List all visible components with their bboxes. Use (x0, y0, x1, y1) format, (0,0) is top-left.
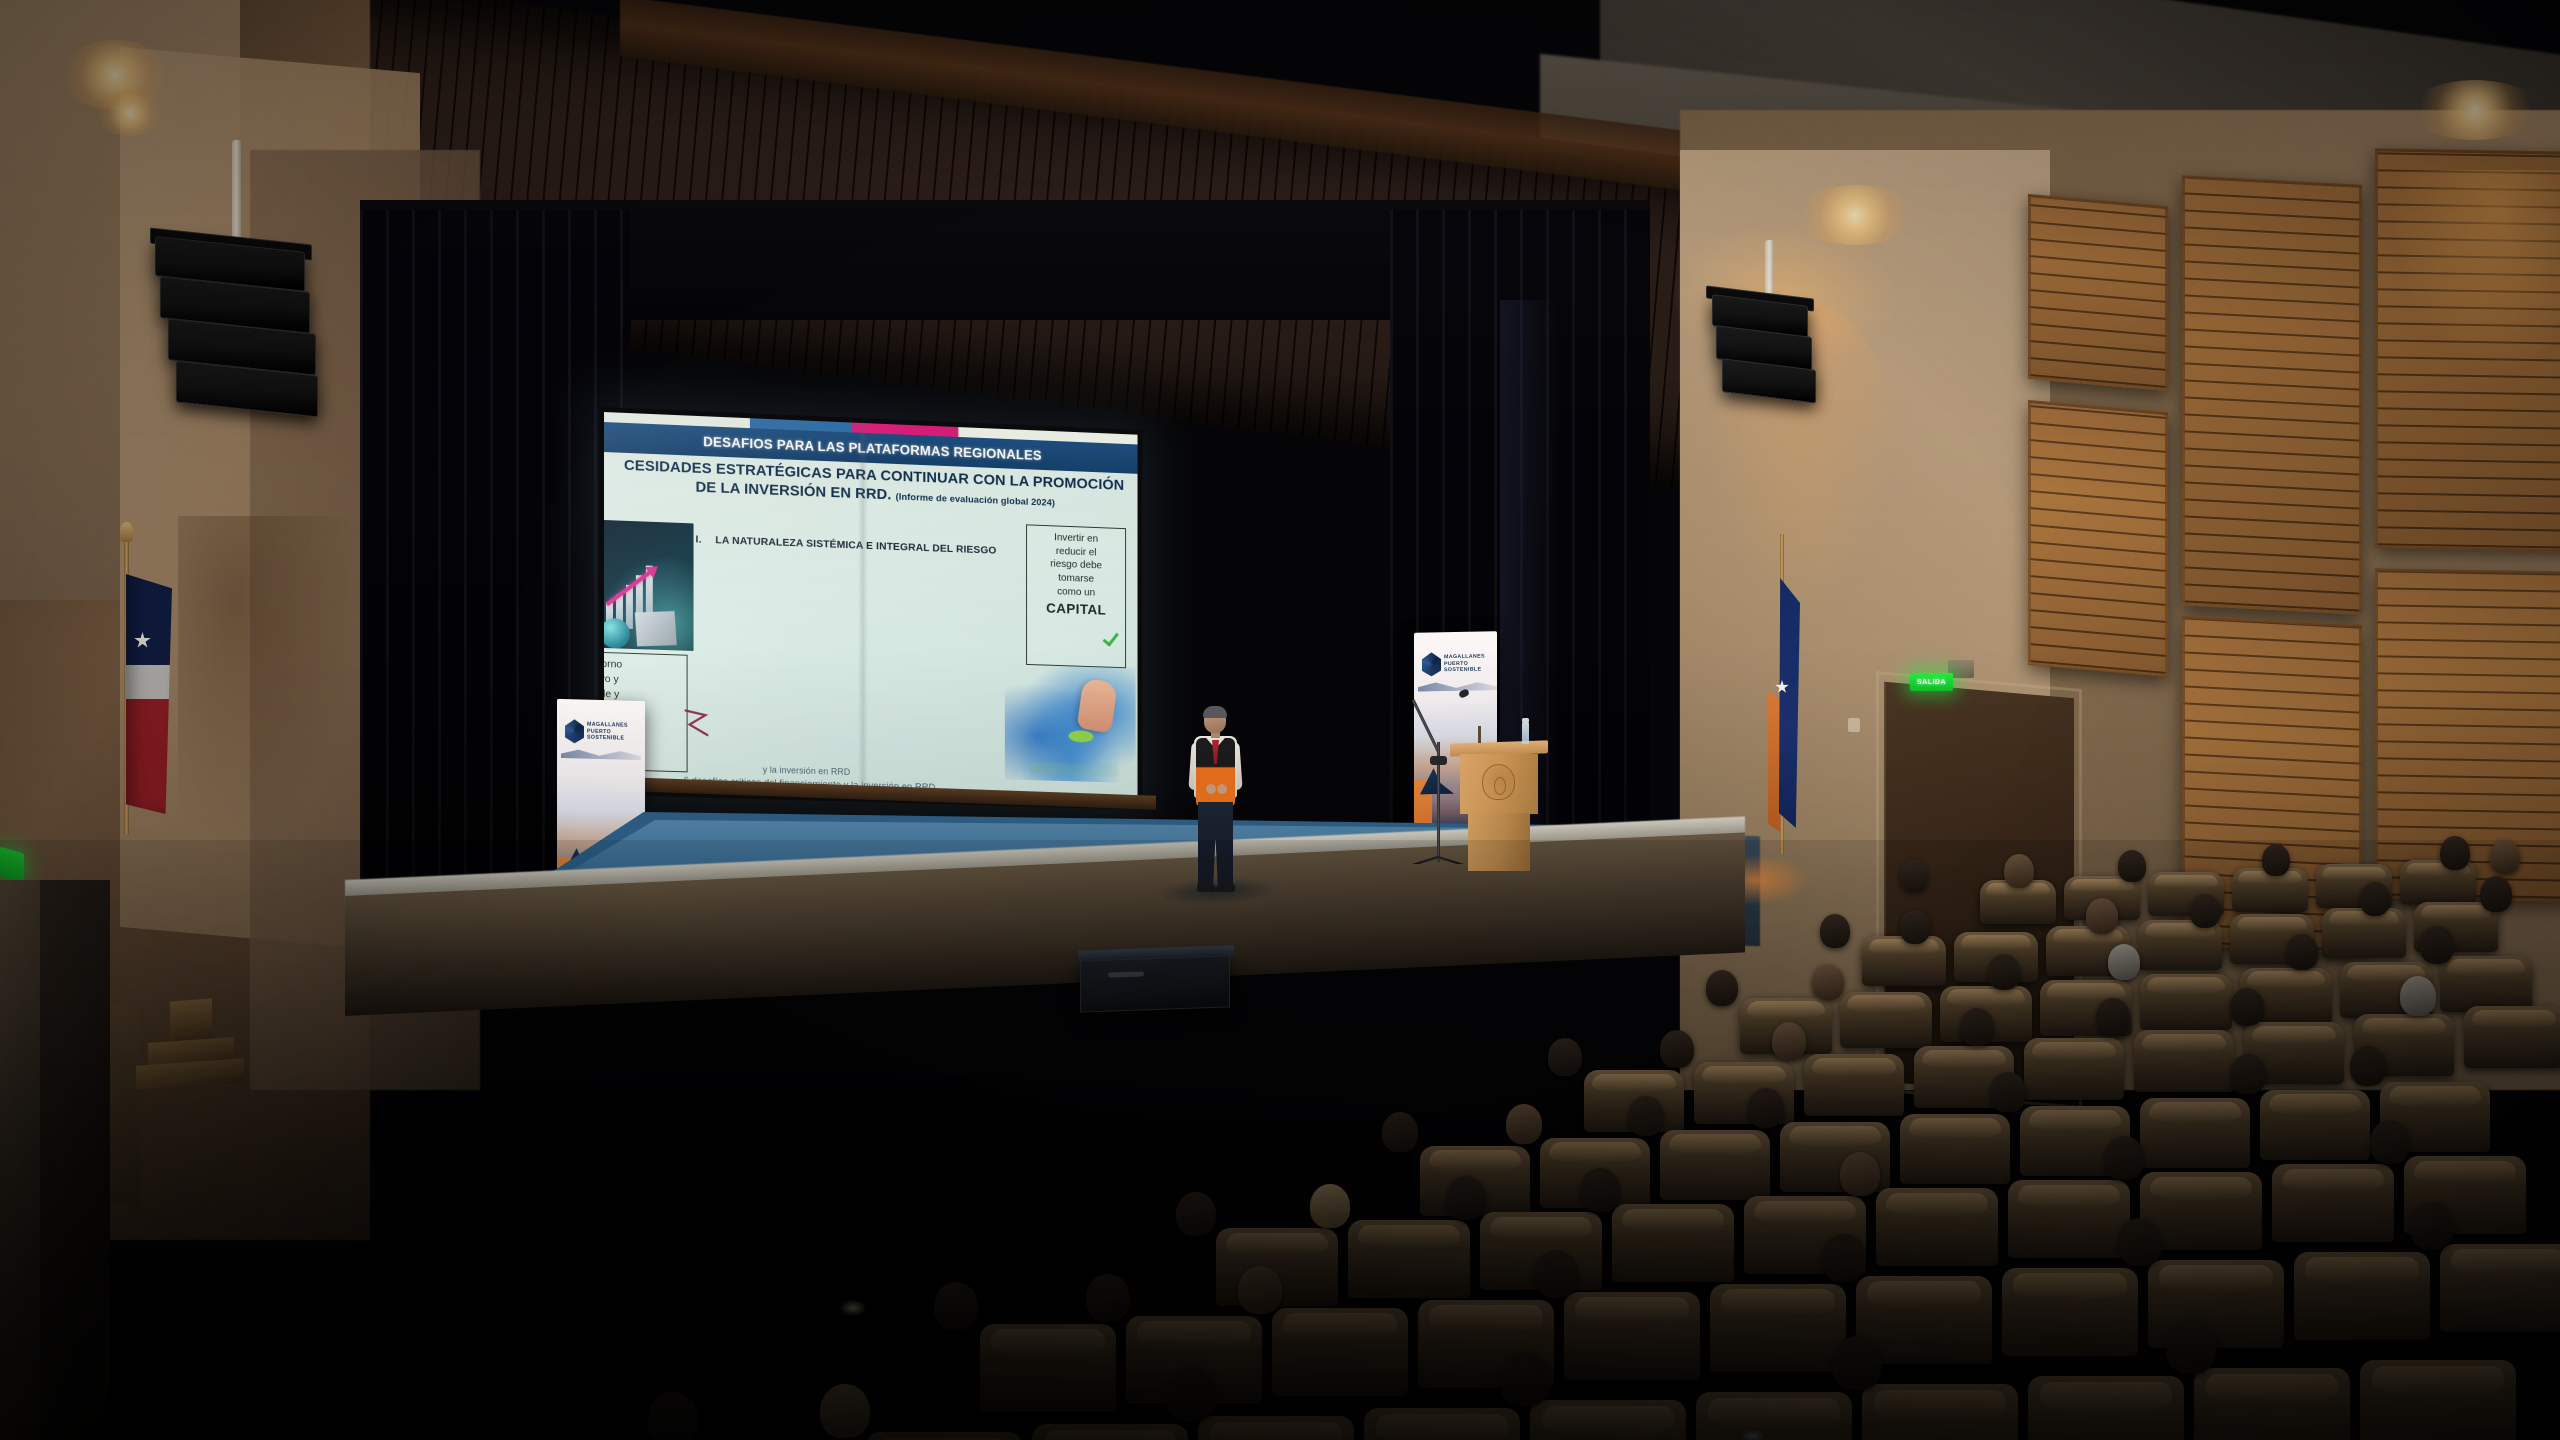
door-push-plate[interactable] (1848, 718, 1860, 732)
theater-seat[interactable] (2024, 1038, 2124, 1100)
hand-planting-icon (1077, 677, 1118, 733)
banner-logo: MAGALLANES PUERTO SOSTENIBLE (1422, 647, 1492, 680)
microphone-clamp (1430, 756, 1447, 765)
wood-slat-panel (2375, 148, 2560, 551)
audience-member-head (1772, 1022, 1806, 1060)
theater-seat[interactable] (2260, 1090, 2370, 1160)
slide-callout-box: Invertir en reducir el riesgo debe tomar… (1026, 524, 1126, 668)
audience-member-head (2262, 844, 2290, 876)
audience-member-head (1706, 970, 1738, 1006)
theater-seat[interactable] (1660, 1130, 1770, 1200)
theater-seat[interactable] (1876, 1188, 1998, 1266)
audience-phone-screen (1742, 1430, 1764, 1440)
wood-slat-panel (2028, 400, 2168, 677)
audience-member-head (1506, 1104, 1542, 1144)
chile-flag (108, 556, 164, 816)
audience-member-head (2286, 934, 2318, 970)
magallanes-logo-icon (1422, 652, 1441, 676)
slide-world-map-image (1005, 663, 1136, 783)
audience-member-head (2004, 854, 2034, 888)
audience-member-head (1812, 964, 1844, 1000)
audience-member-head (1748, 1088, 1784, 1128)
theater-seat[interactable] (1840, 992, 1932, 1048)
audience-member-head (2420, 926, 2454, 964)
chile-flag-cloth (126, 574, 172, 814)
logo-line: SOSTENIBLE (587, 735, 628, 743)
theater-seat[interactable] (1862, 1384, 2018, 1440)
theater-seat[interactable] (866, 1432, 1022, 1440)
audience-member-head (2108, 944, 2140, 980)
presenter-hand-right (1217, 784, 1227, 794)
theater-seat[interactable] (1862, 936, 1946, 986)
audience-member-head (934, 1282, 978, 1330)
audience-member-head (2166, 1320, 2216, 1374)
exit-sign-right: SALIDA (1910, 673, 1953, 691)
wood-slat-panel (2182, 175, 2362, 614)
audience-member-head (2410, 1202, 2454, 1250)
auditorium-scene: DESAFIOS PARA LAS PLATAFORMAS REGIONALES… (0, 0, 2560, 1440)
audience-member-head (2118, 1218, 2162, 1266)
lectern-pen (1478, 726, 1481, 743)
theater-seat[interactable] (2028, 1376, 2184, 1440)
theater-seat[interactable] (2272, 1164, 2394, 1242)
banner-logo: MAGALLANES PUERTO SOSTENIBLE (565, 715, 635, 749)
audience-member-head (2104, 1136, 2144, 1180)
flag-finial (120, 522, 133, 542)
slide-title-text: DESAFIOS PARA LAS PLATAFORMAS REGIONALES (703, 434, 1042, 463)
audience-member-head (1446, 1176, 1486, 1220)
theater-seat[interactable] (2134, 1030, 2234, 1092)
slide-heading-note: (Informe de evaluación global 2024) (896, 491, 1055, 508)
magallanes-logo-icon (565, 719, 584, 743)
audience-member-head (2190, 894, 2220, 928)
theater-seat[interactable] (2194, 1368, 2350, 1440)
theater-seat[interactable] (1530, 1400, 1686, 1440)
theater-seat[interactable] (2008, 1180, 2130, 1258)
audience-member-head (1238, 1266, 1282, 1314)
projection-screen: DESAFIOS PARA LAS PLATAFORMAS REGIONALES… (604, 412, 1138, 805)
slide-bullet-text: LA NATURALEZA SISTÉMICA E INTEGRAL DEL R… (715, 534, 996, 556)
theater-seat[interactable] (1804, 1054, 1904, 1116)
audience-member-head (1166, 1368, 1216, 1422)
theater-seat[interactable] (980, 1324, 1116, 1412)
audience-member-head (1900, 910, 1930, 944)
banner-wave-graphic (1418, 679, 1497, 691)
audience-member-head (820, 1384, 870, 1438)
theater-seat[interactable] (1696, 1392, 1852, 1440)
theater-seat[interactable] (1348, 1220, 1470, 1298)
audience-member-head (1990, 1072, 2026, 1112)
theater-seat[interactable] (2464, 1006, 2560, 1068)
theater-seat[interactable] (1364, 1408, 1520, 1440)
theater-seat[interactable] (1198, 1416, 1354, 1440)
theater-seat[interactable] (1612, 1204, 1734, 1282)
municipal-crest-icon (1482, 764, 1515, 800)
audience-member-head (2230, 1054, 2266, 1094)
banner-logo-text: MAGALLANES PUERTO SOSTENIBLE (587, 722, 628, 742)
theater-seat[interactable] (1272, 1308, 1408, 1396)
audience-member-head (2440, 836, 2470, 870)
theater-seat[interactable] (1900, 1114, 2010, 1184)
presenter-hair (1203, 706, 1227, 718)
audience-member-head (2118, 850, 2146, 882)
audience-member-head (2400, 976, 2436, 1016)
audience-member-head (1500, 1352, 1550, 1406)
speaker-suspension-rod (232, 140, 241, 245)
audience-member-head (2350, 1046, 2386, 1086)
audience-member-head (1086, 1274, 1130, 1322)
theater-seat[interactable] (2294, 1252, 2430, 1340)
audience-member-head (2480, 876, 2512, 912)
slide-bullet-number: I. (696, 533, 716, 546)
audience-member-head (2230, 988, 2264, 1026)
aisle-step-light (840, 1300, 866, 1316)
audience-member-head (1580, 1168, 1620, 1212)
exit-sign-text: SALIDA (1917, 679, 1946, 686)
slide-chart-image (604, 520, 694, 651)
logo-line: SOSTENIBLE (1444, 667, 1485, 674)
chart-cube-shape (635, 611, 677, 646)
water-bottle (1522, 722, 1529, 744)
theater-seat[interactable] (1032, 1424, 1188, 1440)
theater-seat[interactable] (2002, 1268, 2138, 1356)
slide-squiggle-mark (682, 706, 712, 741)
check-mark-icon (1103, 629, 1119, 647)
audience-seating (0, 840, 2560, 1440)
audience-member-head (1548, 1038, 1582, 1076)
theater-seat[interactable] (2360, 1360, 2516, 1440)
audience-member-head (1382, 1112, 1418, 1152)
audience-member-head (1960, 1008, 1994, 1046)
audience-member-head (2360, 882, 2390, 916)
audience-member-head (1900, 860, 1928, 892)
audience-member-head (1832, 1336, 1882, 1390)
banner-wave-graphic (561, 747, 641, 760)
audience-member-head (2096, 998, 2130, 1036)
slide-bullet-item: I.LA NATURALEZA SISTÉMICA E INTEGRAL DEL… (696, 533, 1048, 558)
theater-seat[interactable] (1564, 1292, 1700, 1380)
sprout-icon (1068, 730, 1093, 743)
banner-logo-text: MAGALLANES PUERTO SOSTENIBLE (1444, 654, 1485, 674)
audience-member-head (1534, 1250, 1578, 1298)
audience-member-head (1840, 1152, 1880, 1196)
audience-member-head (2490, 840, 2520, 874)
presentation-slide: DESAFIOS PARA LAS PLATAFORMAS REGIONALES… (604, 412, 1138, 805)
audience-member-head (648, 1392, 698, 1440)
audience-member-head (2086, 898, 2118, 934)
water-bottle-cap (1522, 718, 1529, 723)
magallanes-regional-flag (1760, 552, 1804, 842)
wood-slat-panel (2028, 194, 2168, 391)
presenter-hand-left (1206, 784, 1216, 794)
theater-seat[interactable] (2322, 908, 2406, 958)
theater-seat[interactable] (2140, 1098, 2250, 1168)
audience-member-head (1310, 1184, 1350, 1228)
theater-seat[interactable] (2440, 1244, 2560, 1332)
theater-seat[interactable] (2440, 956, 2532, 1012)
callout-emphasis-word: CAPITAL (1027, 599, 1125, 621)
audience-member-head (1176, 1192, 1216, 1236)
audience-member-head (1820, 914, 1850, 948)
theater-seat[interactable] (1710, 1284, 1846, 1372)
audience-member-head (2370, 1120, 2410, 1164)
audience-member-head (1628, 1096, 1664, 1136)
audience-member-head (1660, 1030, 1694, 1068)
audience-member-head (1822, 1234, 1866, 1282)
theater-seat[interactable] (2140, 974, 2232, 1030)
audience-member-head (1988, 954, 2020, 990)
